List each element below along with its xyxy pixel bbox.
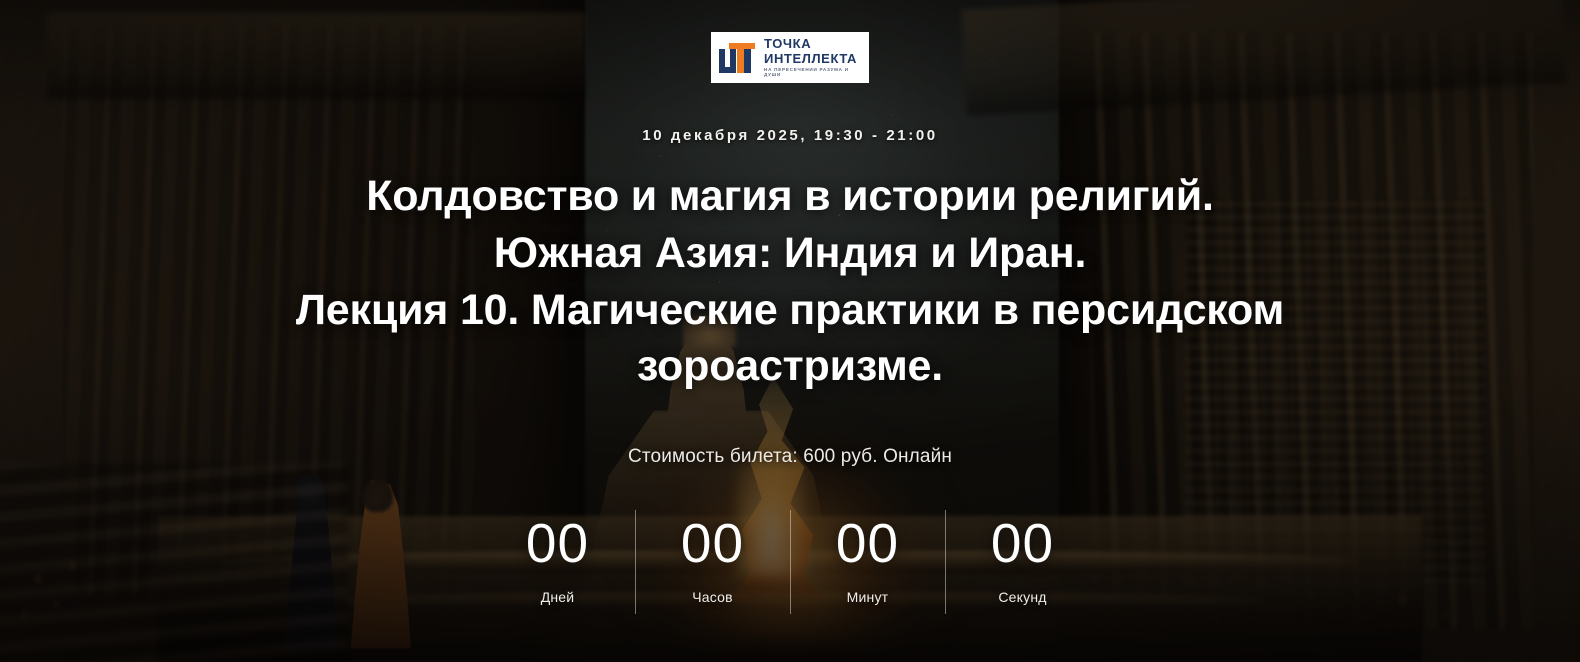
- countdown-seconds-label: Секунд: [998, 589, 1046, 605]
- brand-logo[interactable]: ТОЧКА ИНТЕЛЛЕКТА НА ПЕРЕСЕЧЕНИИ РАЗУМА И…: [711, 32, 869, 83]
- countdown-days-label: Дней: [541, 589, 575, 605]
- countdown-minutes-value: 00: [836, 516, 899, 571]
- countdown-timer: 00 Дней 00 Часов 00 Минут 00 Секунд: [480, 516, 1100, 605]
- event-title: Колдовство и магия в истории религий. Юж…: [200, 168, 1380, 395]
- brand-name-line2: ИНТЕЛЛЕКТА: [764, 52, 863, 65]
- event-title-line-2: Южная Азия: Индия и Иран.: [200, 225, 1380, 282]
- countdown-unit-days: 00 Дней: [480, 516, 635, 605]
- countdown-unit-minutes: 00 Минут: [790, 516, 945, 605]
- banner-content: ТОЧКА ИНТЕЛЛЕКТА НА ПЕРЕСЕЧЕНИИ РАЗУМА И…: [0, 0, 1580, 662]
- countdown-hours-label: Часов: [692, 589, 733, 605]
- countdown-minutes-label: Минут: [847, 589, 889, 605]
- countdown-hours-value: 00: [681, 516, 744, 571]
- event-title-line-3: Лекция 10. Магические практики в персидс…: [200, 282, 1380, 339]
- event-hero-banner: ТОЧКА ИНТЕЛЛЕКТА НА ПЕРЕСЕЧЕНИИ РАЗУМА И…: [0, 0, 1580, 662]
- brand-name-line1: ТОЧКА: [764, 37, 863, 50]
- countdown-unit-hours: 00 Часов: [635, 516, 790, 605]
- tochka-intellekta-logo-icon: [717, 41, 757, 75]
- countdown-seconds-value: 00: [991, 516, 1054, 571]
- countdown-unit-seconds: 00 Секунд: [945, 516, 1100, 605]
- countdown-days-value: 00: [526, 516, 589, 571]
- event-datetime: 10 декабря 2025, 19:30 - 21:00: [642, 127, 937, 144]
- brand-wordmark: ТОЧКА ИНТЕЛЛЕКТА НА ПЕРЕСЕЧЕНИИ РАЗУМА И…: [764, 37, 863, 77]
- event-title-line-1: Колдовство и магия в истории религий.: [200, 168, 1380, 225]
- brand-tagline: НА ПЕРЕСЕЧЕНИИ РАЗУМА И ДУШИ: [764, 68, 863, 77]
- event-title-line-4: зороастризме.: [200, 338, 1380, 395]
- ticket-price: Стоимость билета: 600 руб. Онлайн: [628, 446, 952, 468]
